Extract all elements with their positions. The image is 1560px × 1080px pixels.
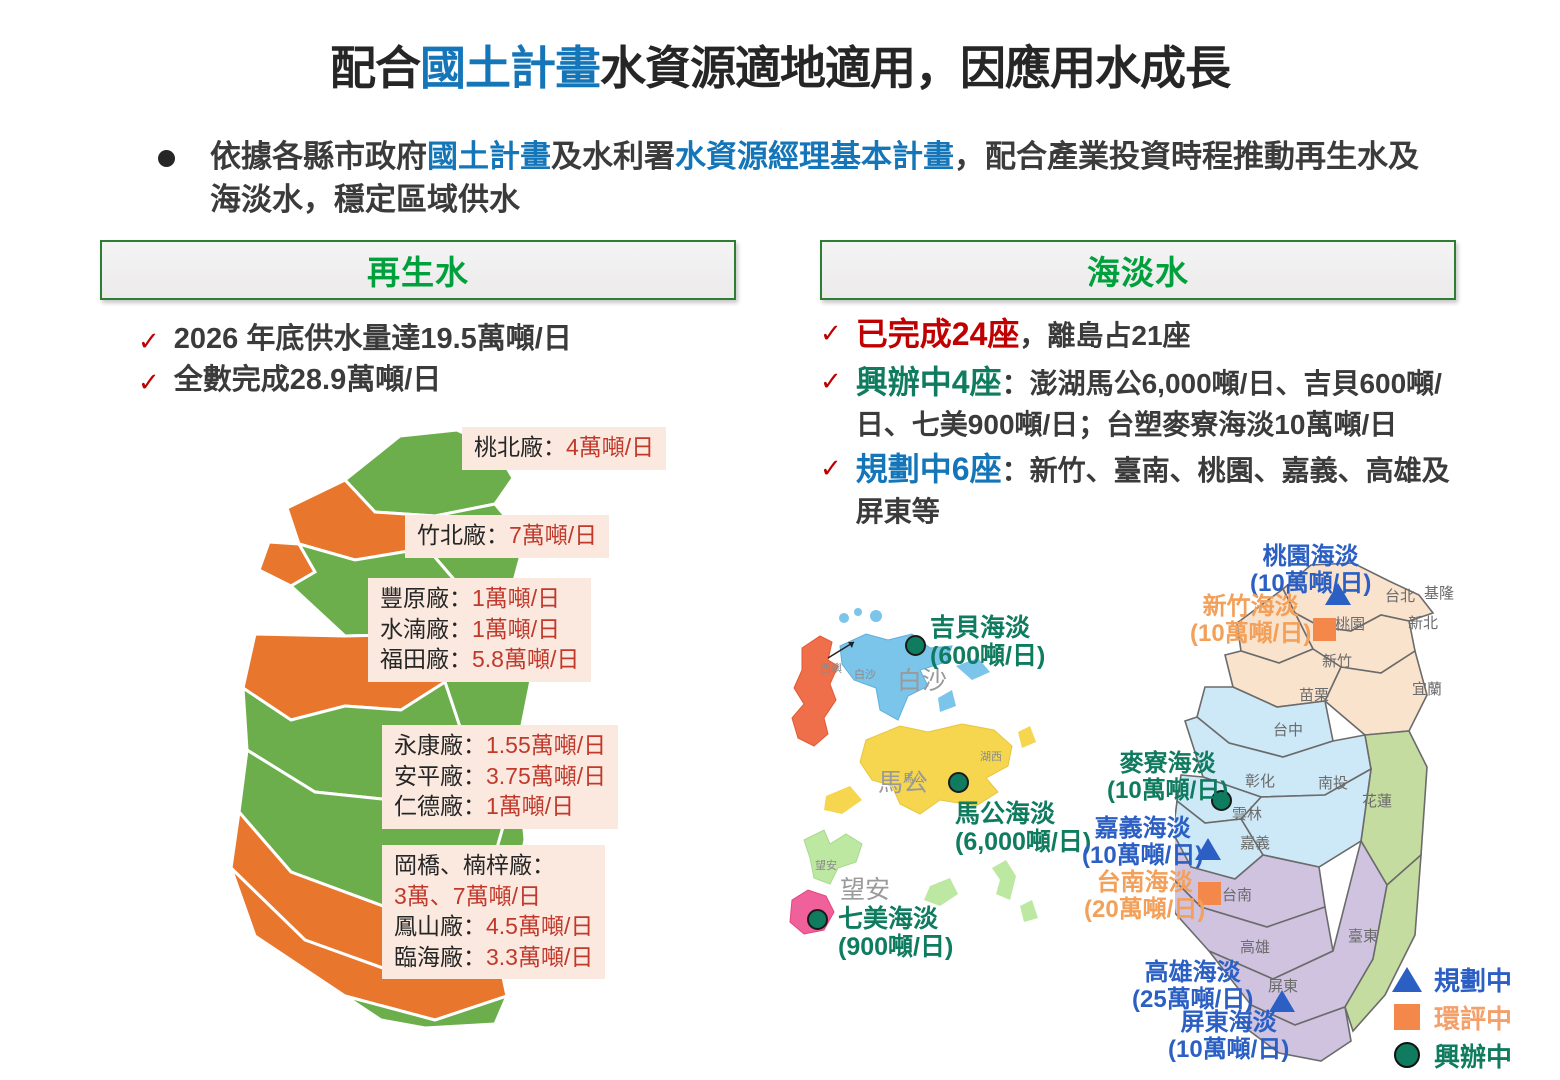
penghu-island-xiyu [792, 636, 838, 746]
site-label-hsinchu: 新竹海淡 (10萬噸/日) [1190, 594, 1311, 648]
bullet-hl2: 水資源經理基本計畫 [675, 139, 954, 174]
bullet-dot-icon [158, 150, 175, 167]
site-label-taoyuan: 桃園海淡 (10萬噸/日) [1250, 544, 1371, 598]
marker-cimei-circle-icon [807, 909, 828, 930]
bullet-seg1: 依據各縣市政府 [210, 139, 427, 174]
legend-label: 規劃中 [1434, 961, 1512, 998]
bullet-text: 依據各縣市政府國土計畫及水利署水資源經理基本計畫，配合產業投資時程推動再生水及海… [210, 136, 1440, 222]
plant-capacity: 3萬、7萬噸/日 [394, 883, 541, 909]
site-name: 屏東海淡 [1168, 1010, 1289, 1037]
region-label-chiayi: 嘉義 [1240, 832, 1270, 853]
marker-jibei-circle-icon [905, 635, 926, 656]
panel-header-recycled: 再生水 [100, 240, 736, 300]
list-item-label: 興辦中4座：澎湖馬公6,000噸/日、吉貝600噸/日、七美900噸/日；台塑麥… [856, 360, 1470, 444]
penghu-region-label-baisha-sm: 白沙 [854, 666, 876, 682]
plant-name: 鳳山廠： [394, 913, 486, 939]
list-item: ✓ 全數完成28.9萬噸/日 [138, 361, 758, 399]
panel-header-recycled-label: 再生水 [367, 246, 469, 294]
list-item-rest: ，離島占21座 [1019, 320, 1190, 351]
region-label-yunlin: 雲林 [1232, 803, 1262, 824]
site-label-magong: 馬公海淡 (6,000噸/日) [955, 800, 1091, 856]
region-label-newtaipei: 新北 [1408, 612, 1438, 633]
site-name: 麥寮海淡 [1107, 751, 1228, 778]
plant-capacity: 1萬噸/日 [486, 793, 574, 819]
region-label-hualien: 花蓮 [1362, 790, 1392, 811]
panel-header-desal: 海淡水 [820, 240, 1456, 300]
region-label-changhua: 彰化 [1245, 770, 1275, 791]
site-capacity: (10萬噸/日) [1190, 621, 1311, 648]
check-icon: ✓ [138, 320, 160, 354]
site-name: 台南海淡 [1084, 870, 1205, 897]
plant-line: 臨海廠：3.3萬噸/日 [394, 942, 593, 973]
check-icon: ✓ [820, 312, 842, 346]
penghu-region-label-magong: 馬公 [878, 763, 928, 799]
plant-name: 福田廠： [380, 646, 472, 672]
plant-capacity: 3.3萬噸/日 [486, 944, 593, 970]
legend-item-planning: 規劃中 [1390, 960, 1512, 998]
site-capacity: (10萬噸/日) [1107, 778, 1228, 805]
site-name: 馬公海淡 [955, 800, 1091, 828]
region-label-keelung: 基隆 [1424, 582, 1454, 603]
bullet-hl1: 國土計畫 [427, 139, 551, 174]
plant-name: 永康廠： [394, 732, 486, 758]
plant-line: 安平廠：3.75萬噸/日 [394, 761, 606, 792]
site-name: 桃園海淡 [1250, 544, 1371, 571]
plant-name: 岡橋、楠梓廠： [394, 852, 555, 878]
site-label-jibei: 吉貝海淡 (600噸/日) [930, 614, 1045, 670]
plant-capacity: 1.55萬噸/日 [486, 732, 606, 758]
site-name: 嘉義海淡 [1082, 816, 1203, 843]
penghu-region-label-wangan-sm: 望安 [815, 857, 837, 873]
legend-item-eia: 環評中 [1390, 998, 1512, 1036]
intro-bullet: 依據各縣市政府國土計畫及水利署水資源經理基本計畫，配合產業投資時程推動再生水及海… [150, 136, 1440, 222]
site-label-cimei: 七美海淡 (900噸/日) [838, 905, 953, 961]
penghu-region-label-wangan: 望安 [840, 870, 890, 906]
site-label-mailiao: 麥寮海淡 (10萬噸/日) [1107, 751, 1228, 805]
list-item-label: 規劃中6座：新竹、臺南、桃園、嘉義、高雄及屏東等 [856, 447, 1470, 531]
plant-name: 安平廠： [394, 763, 486, 789]
site-capacity: (6,000噸/日) [955, 828, 1091, 856]
region-label-hsinchu: 新竹 [1322, 650, 1352, 671]
square-icon [1390, 1004, 1424, 1030]
site-label-chiayi: 嘉義海淡 (10萬噸/日) [1082, 816, 1203, 870]
region-label-taipei: 台北 [1385, 585, 1415, 606]
title-part2: 水資源適地適用，因應用水成長 [600, 42, 1230, 94]
check-icon: ✓ [820, 447, 842, 481]
plant-capacity: 7萬噸/日 [509, 522, 597, 548]
region-label-nantou: 南投 [1318, 772, 1348, 793]
plant-name: 仁德廠： [394, 793, 486, 819]
site-capacity: (10萬噸/日) [1168, 1037, 1289, 1064]
bullet-seg2: 及水利署 [551, 139, 675, 174]
plant-line: 仁德廠：1萬噸/日 [394, 791, 606, 822]
site-name: 七美海淡 [838, 905, 953, 933]
title-highlight: 國土計畫 [420, 42, 600, 94]
region-label-taichung: 台中 [1273, 719, 1303, 740]
plant-label-tainan: 永康廠：1.55萬噸/日 安平廠：3.75萬噸/日 仁德廠：1萬噸/日 [382, 725, 618, 829]
marker-magong-circle-icon [948, 772, 969, 793]
legend-item-construction: 興辦中 [1390, 1036, 1512, 1074]
penghu-region-label-huxi: 湖西 [980, 748, 1002, 764]
site-capacity: (600噸/日) [930, 642, 1045, 670]
plant-capacity: 4.5萬噸/日 [486, 913, 593, 939]
list-item-label: 2026 年底供水量達19.5萬噸/日 [174, 320, 572, 358]
list-item: ✓ 2026 年底供水量達19.5萬噸/日 [138, 320, 758, 358]
region-label-kaohsiung: 高雄 [1240, 936, 1270, 957]
list-item-label: 已完成24座，離島占21座 [856, 312, 1191, 357]
region-label-yilan: 宜蘭 [1412, 678, 1442, 699]
map-legend: 規劃中 環評中 興辦中 [1390, 960, 1512, 1074]
region-label-miaoli: 苗栗 [1299, 684, 1329, 705]
list-item-highlight: 興辦中4座 [856, 364, 1002, 400]
plant-line: 鳳山廠：4.5萬噸/日 [394, 911, 593, 942]
site-capacity: (20萬噸/日) [1084, 897, 1205, 924]
plant-capacity: 3.75萬噸/日 [486, 763, 606, 789]
plant-name: 桃北廠： [474, 434, 566, 460]
plant-label-taobei: 桃北廠：4萬噸/日 [462, 427, 666, 470]
list-item-highlight: 已完成24座 [856, 316, 1020, 352]
list-item: ✓ 已完成24座，離島占21座 [820, 312, 1470, 357]
plant-capacity: 5.8萬噸/日 [472, 646, 579, 672]
marker-hsinchu-square-icon [1313, 618, 1336, 641]
title-part1: 配合 [330, 42, 420, 94]
site-label-kaohsiung: 高雄海淡 (25萬噸/日) [1132, 960, 1253, 1014]
site-label-tainan: 台南海淡 (20萬噸/日) [1084, 870, 1205, 924]
page-title: 配合國土計畫水資源適地適用，因應用水成長 [0, 32, 1560, 98]
site-label-pingtung: 屏東海淡 (10萬噸/日) [1168, 1010, 1289, 1064]
list-item: ✓ 規劃中6座：新竹、臺南、桃園、嘉義、高雄及屏東等 [820, 447, 1470, 531]
plant-line: 岡橋、楠梓廠： [394, 850, 593, 881]
plant-capacity: 1萬噸/日 [472, 585, 560, 611]
site-capacity: (900噸/日) [838, 933, 953, 961]
plant-capacity: 4萬噸/日 [566, 434, 654, 460]
region-label-taitung: 臺東 [1348, 925, 1378, 946]
panel-header-desal-label: 海淡水 [1087, 246, 1189, 294]
plant-label-zhubei: 竹北廠：7萬噸/日 [405, 515, 609, 558]
plant-line: 豐原廠：1萬噸/日 [380, 583, 579, 614]
list-item: ✓ 興辦中4座：澎湖馬公6,000噸/日、吉貝600噸/日、七美900噸/日；台… [820, 360, 1470, 444]
plant-line: 永康廠：1.55萬噸/日 [394, 730, 606, 761]
penghu-region-label-xiyu: 西嶼 [820, 660, 842, 676]
plant-capacity: 1萬噸/日 [472, 616, 560, 642]
list-item-highlight: 規劃中6座 [856, 451, 1002, 487]
slide-root: 配合國土計畫水資源適地適用，因應用水成長 依據各縣市政府國土計畫及水利署水資源經… [0, 0, 1560, 1080]
plant-name: 臨海廠： [394, 944, 486, 970]
site-name: 高雄海淡 [1132, 960, 1253, 987]
site-capacity: (10萬噸/日) [1082, 843, 1203, 870]
plant-name: 水湳廠： [380, 616, 472, 642]
plant-name: 竹北廠： [417, 522, 509, 548]
check-icon: ✓ [820, 360, 842, 394]
plant-line: 水湳廠：1萬噸/日 [380, 614, 579, 645]
list-item-label: 全數完成28.9萬噸/日 [174, 361, 442, 399]
recycled-checklist: ✓ 2026 年底供水量達19.5萬噸/日 ✓ 全數完成28.9萬噸/日 [138, 320, 758, 403]
check-icon: ✓ [138, 361, 160, 395]
site-name: 新竹海淡 [1190, 594, 1311, 621]
triangle-icon [1390, 967, 1424, 992]
plant-line: 福田廠：5.8萬噸/日 [380, 644, 579, 675]
site-name: 吉貝海淡 [930, 614, 1045, 642]
circle-icon [1390, 1042, 1424, 1068]
plant-label-central: 豐原廠：1萬噸/日 水湳廠：1萬噸/日 福田廠：5.8萬噸/日 [368, 578, 591, 682]
desal-checklist: ✓ 已完成24座，離島占21座 ✓ 興辦中4座：澎湖馬公6,000噸/日、吉貝6… [820, 312, 1470, 534]
plant-line: 3萬、7萬噸/日 [394, 881, 593, 912]
legend-label: 興辦中 [1434, 1037, 1512, 1074]
plant-label-kaohsiung: 岡橋、楠梓廠： 3萬、7萬噸/日 鳳山廠：4.5萬噸/日 臨海廠：3.3萬噸/日 [382, 845, 605, 979]
region-label-tainan: 台南 [1222, 884, 1252, 905]
region-label-taoyuan: 桃園 [1335, 613, 1365, 634]
legend-label: 環評中 [1434, 999, 1512, 1036]
plant-name: 豐原廠： [380, 585, 472, 611]
